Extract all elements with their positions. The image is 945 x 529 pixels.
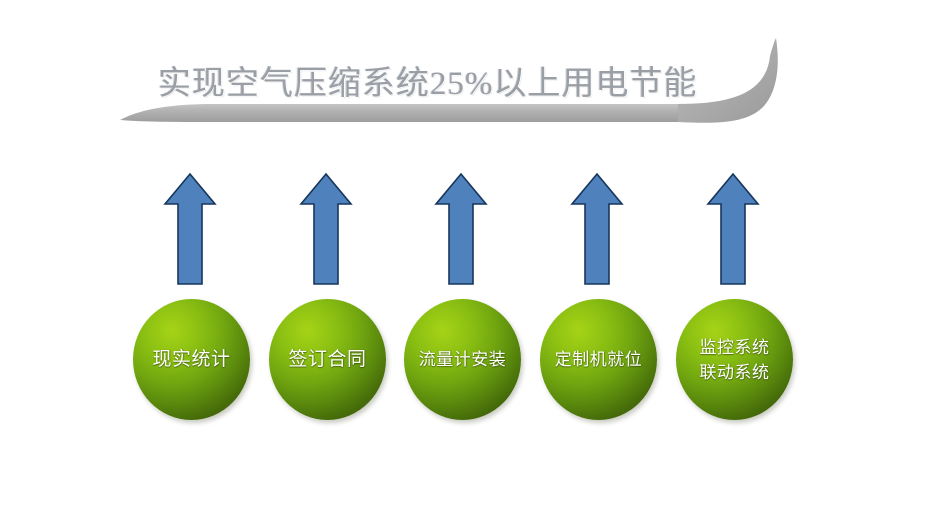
step-circle-4[interactable]: 定制机就位	[540, 299, 657, 420]
arrow-up-icon-3	[434, 172, 488, 286]
step-label-5: 监控系统 联动系统	[696, 335, 774, 385]
arrow-up-icon-2	[299, 172, 353, 286]
arrow-up-icon-4	[570, 172, 624, 286]
arrow-up-icon-1	[163, 172, 217, 286]
step-circle-5[interactable]: 监控系统 联动系统	[676, 299, 793, 420]
step-circle-3[interactable]: 流量计安装	[404, 299, 521, 420]
step-label-1: 现实统计	[148, 348, 234, 371]
page-title: 实现空气压缩系统25%以上用电节能	[158, 58, 728, 110]
step-circle-2[interactable]: 签订合同	[269, 299, 386, 420]
step-label-2: 签订合同	[284, 348, 370, 371]
slide-canvas: 实现空气压缩系统25%以上用电节能 现实统计 签订合同 流量计安装 定制机就位 …	[0, 0, 945, 529]
title-banner: 实现空气压缩系统25%以上用电节能	[118, 38, 788, 138]
step-label-4: 定制机就位	[551, 348, 647, 371]
arrow-up-icon-5	[706, 172, 760, 286]
step-label-3: 流量计安装	[415, 348, 511, 371]
step-circle-1[interactable]: 现实统计	[133, 299, 250, 420]
